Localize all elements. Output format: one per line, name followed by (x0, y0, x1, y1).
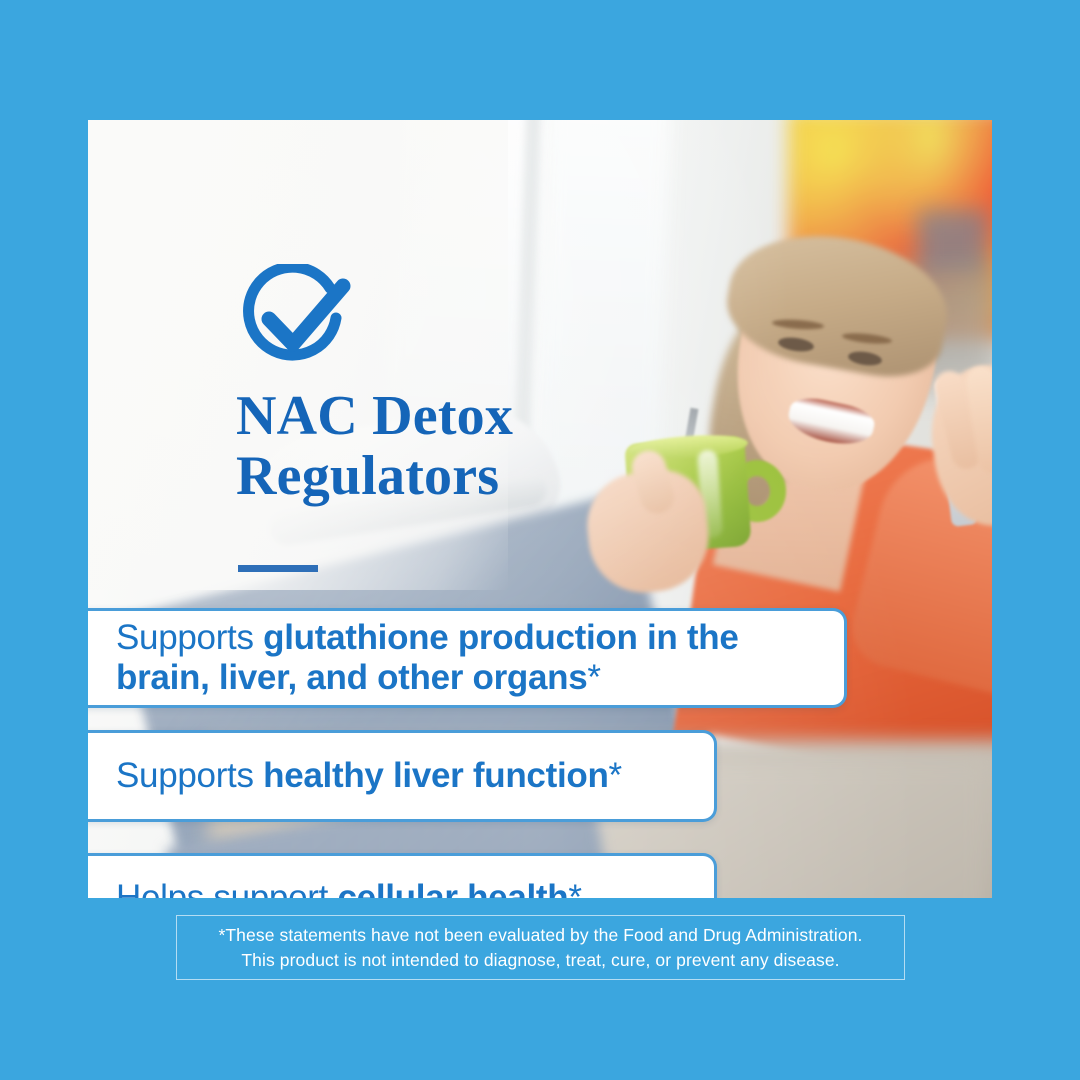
fda-disclaimer: *These statements have not been evaluate… (176, 915, 905, 980)
benefit-bar: Helps support cellular health* (88, 853, 717, 898)
benefit-lead: Helps support (116, 878, 337, 898)
benefit-bar: Supports glutathione production in the b… (88, 608, 847, 708)
page-title-line-2: Regulators (236, 446, 596, 506)
title-divider-rule (238, 565, 318, 572)
benefit-asterisk: * (568, 878, 581, 898)
benefit-asterisk: * (587, 658, 600, 697)
benefit-asterisk: * (609, 756, 622, 795)
circle-check-icon (236, 264, 354, 376)
page-title: NAC Detox Regulators (236, 386, 596, 507)
benefit-text: Supports healthy liver function* (88, 756, 648, 796)
disclaimer-line-2: This product is not intended to diagnose… (241, 948, 839, 973)
benefit-text: Supports glutathione production in the b… (88, 618, 844, 698)
benefit-emphasis: cellular health (337, 878, 568, 898)
benefit-emphasis: healthy liver function (263, 756, 608, 795)
benefit-text: Helps support cellular health* (88, 878, 608, 898)
benefit-bar: Supports healthy liver function* (88, 730, 717, 822)
disclaimer-line-1: *These statements have not been evaluate… (218, 923, 862, 948)
benefit-lead: Supports (116, 618, 263, 657)
poster-canvas: NAC Detox Regulators Supports glutathion… (0, 0, 1080, 1080)
hero-photo-card: NAC Detox Regulators Supports glutathion… (88, 120, 992, 898)
benefit-lead: Supports (116, 756, 263, 795)
page-title-line-1: NAC Detox (236, 385, 513, 447)
